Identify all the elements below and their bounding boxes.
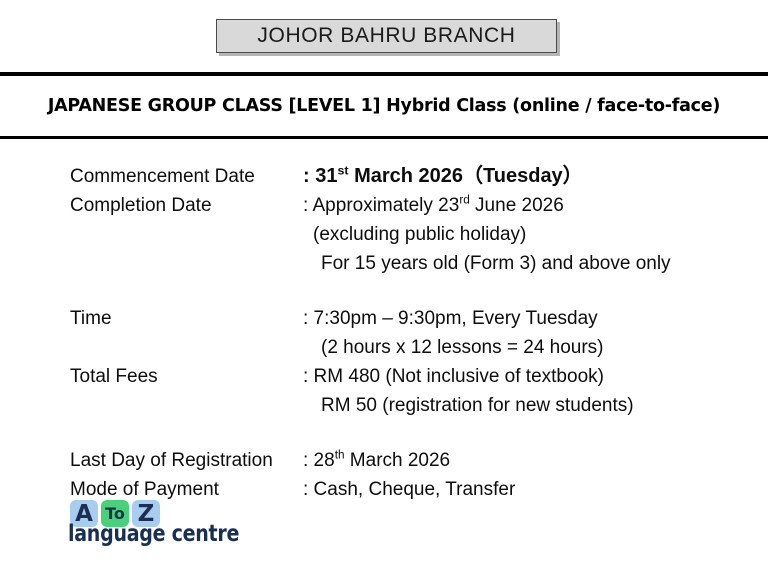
last-day-ordinal: th xyxy=(335,449,345,462)
value-commencement-date: : 31st March 2026（Tuesday） xyxy=(303,162,730,191)
label-completion-date: Completion Date xyxy=(70,191,303,220)
completion-prefix: Approximately 23 xyxy=(308,195,459,216)
value-total-fees: : RM 480 (Not inclusive of textbook) xyxy=(303,362,730,391)
commencement-colon: : xyxy=(303,165,310,187)
row-time: Time : 7:30pm – 9:30pm, Every Tuesday xyxy=(70,304,730,333)
divider-top xyxy=(0,72,768,76)
last-day-day: 28 xyxy=(308,450,334,471)
completion-ordinal: rd xyxy=(459,194,469,207)
row-completion-date: Completion Date : Approximately 23rd Jun… xyxy=(70,191,730,220)
commencement-rest: March 2026（Tuesday） xyxy=(349,165,583,187)
label-time: Time xyxy=(70,304,303,333)
class-title: JAPANESE GROUP CLASS [LEVEL 1] Hybrid Cl… xyxy=(0,96,768,116)
label-last-day-registration: Last Day of Registration xyxy=(70,446,303,475)
label-total-fees: Total Fees xyxy=(70,362,303,391)
label-commencement-date: Commencement Date xyxy=(70,162,303,191)
branch-name: JOHOR BAHRU BRANCH xyxy=(257,24,515,48)
fees-note-registration: RM 50 (registration for new students) xyxy=(70,391,730,420)
row-total-fees: Total Fees : RM 480 (Not inclusive of te… xyxy=(70,362,730,391)
course-details: Commencement Date : 31st March 2026（Tues… xyxy=(70,162,730,504)
completion-rest: June 2026 xyxy=(470,195,564,216)
commencement-day: 31 xyxy=(315,165,337,187)
value-mode-of-payment: : Cash, Cheque, Transfer xyxy=(303,475,730,504)
row-commencement-date: Commencement Date : 31st March 2026（Tues… xyxy=(70,162,730,191)
branch-header: JOHOR BAHRU BRANCH xyxy=(216,19,557,53)
branch-header-box: JOHOR BAHRU BRANCH xyxy=(216,19,557,53)
row-last-day-registration: Last Day of Registration : 28th March 20… xyxy=(70,446,730,475)
value-last-day-registration: : 28th March 2026 xyxy=(303,446,730,475)
divider-bottom xyxy=(0,136,768,139)
completion-note-age: For 15 years old (Form 3) and above only xyxy=(70,249,730,278)
last-day-rest: March 2026 xyxy=(345,450,451,471)
value-completion-date: : Approximately 23rd June 2026 xyxy=(303,191,730,220)
time-note-hours: (2 hours x 12 lessons = 24 hours) xyxy=(70,333,730,362)
value-time: : 7:30pm – 9:30pm, Every Tuesday xyxy=(303,304,730,333)
a-to-z-logo: A To Z language centre xyxy=(68,500,243,547)
commencement-ordinal: st xyxy=(337,163,348,177)
completion-note-holiday: (excluding public holiday) xyxy=(70,220,730,249)
logo-wordmark: language centre xyxy=(68,521,229,547)
